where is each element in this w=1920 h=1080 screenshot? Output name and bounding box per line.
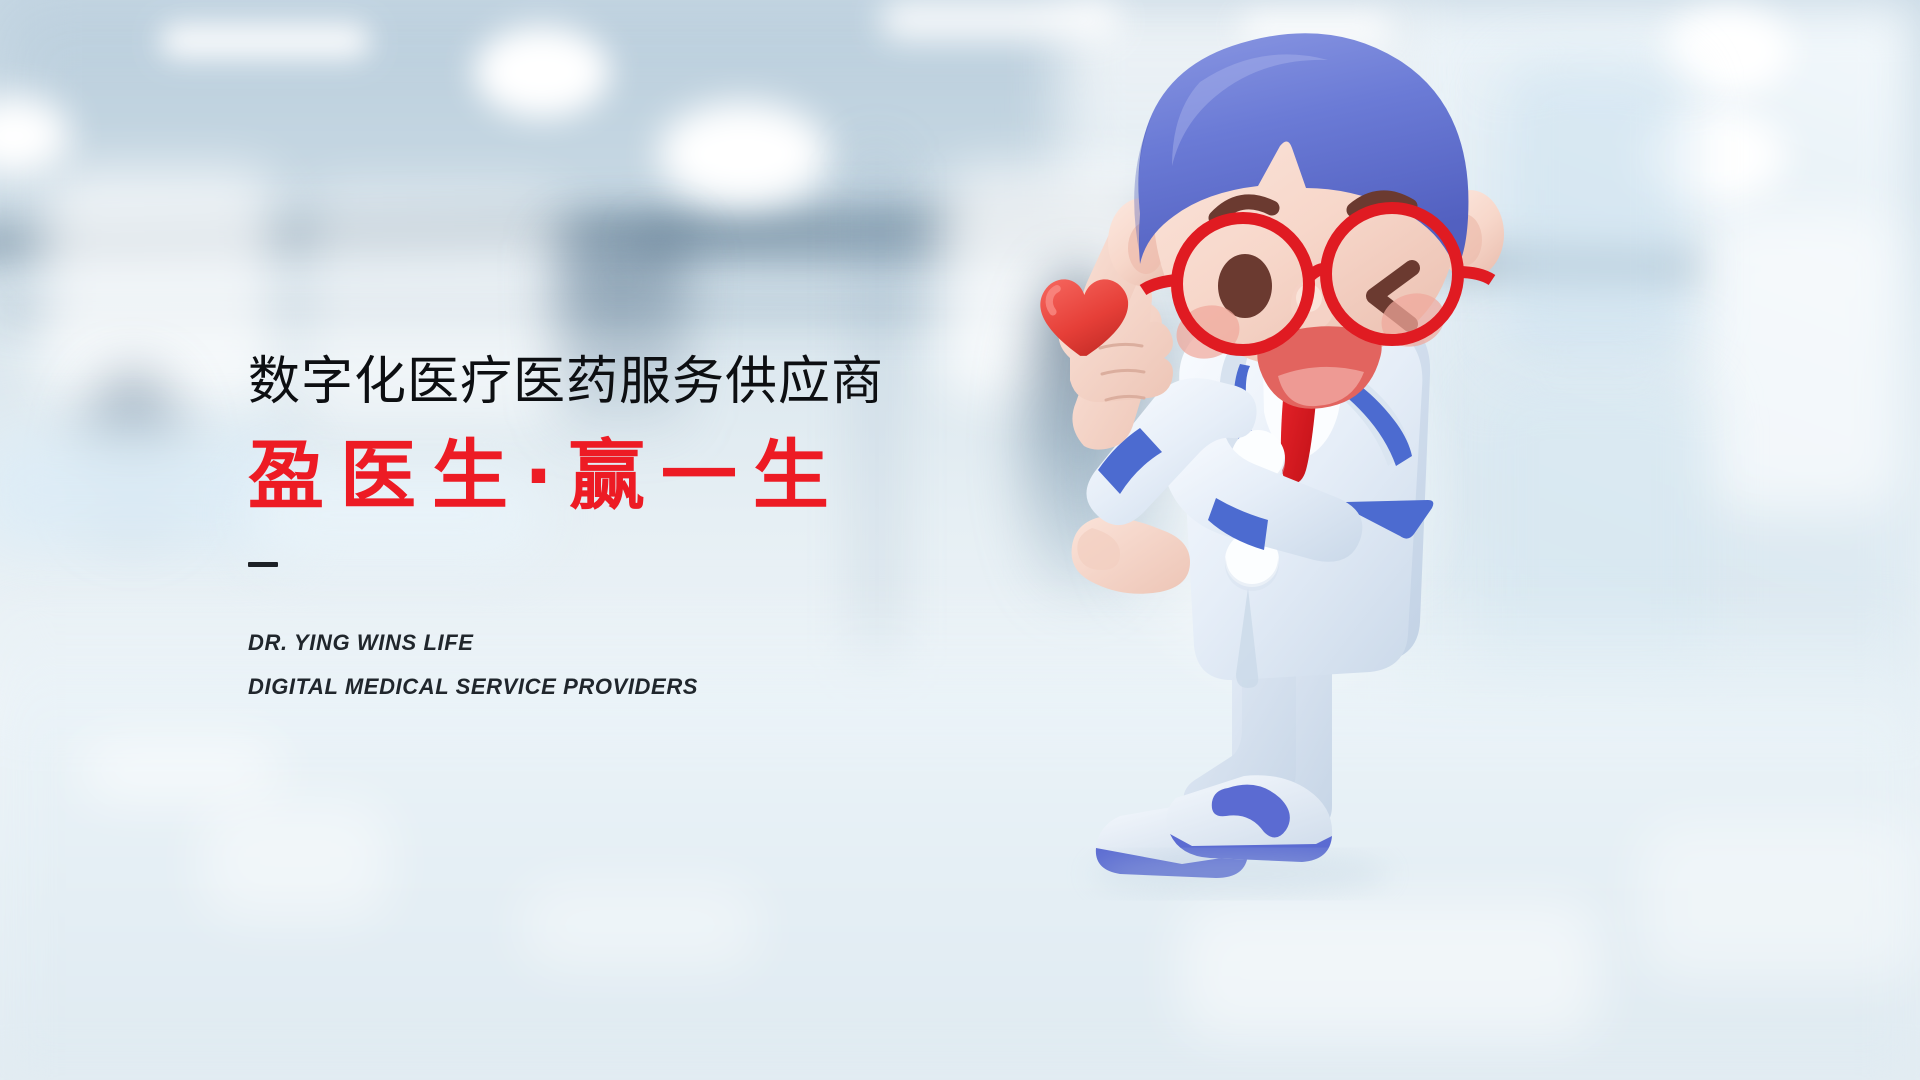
mascot-doctor-character — [980, 28, 1700, 888]
floor-reflection — [1180, 900, 1600, 1040]
background-window-smear — [1700, 210, 1900, 510]
floor-reflection — [80, 740, 280, 800]
mascot-ground-shadow — [1090, 852, 1390, 896]
hero-banner: 数字化医疗医药服务供应商 盈医生·赢一生 DR. YING WINS LIFE … — [0, 0, 1920, 1080]
bokeh-light — [160, 24, 370, 58]
bokeh-light — [474, 26, 610, 118]
hero-divider-rule — [248, 562, 278, 567]
floor-reflection — [520, 880, 760, 970]
mascot-eye-open — [1218, 254, 1272, 318]
bokeh-light — [658, 102, 828, 206]
background-window-smear — [40, 170, 280, 410]
floor-reflection — [200, 800, 390, 920]
